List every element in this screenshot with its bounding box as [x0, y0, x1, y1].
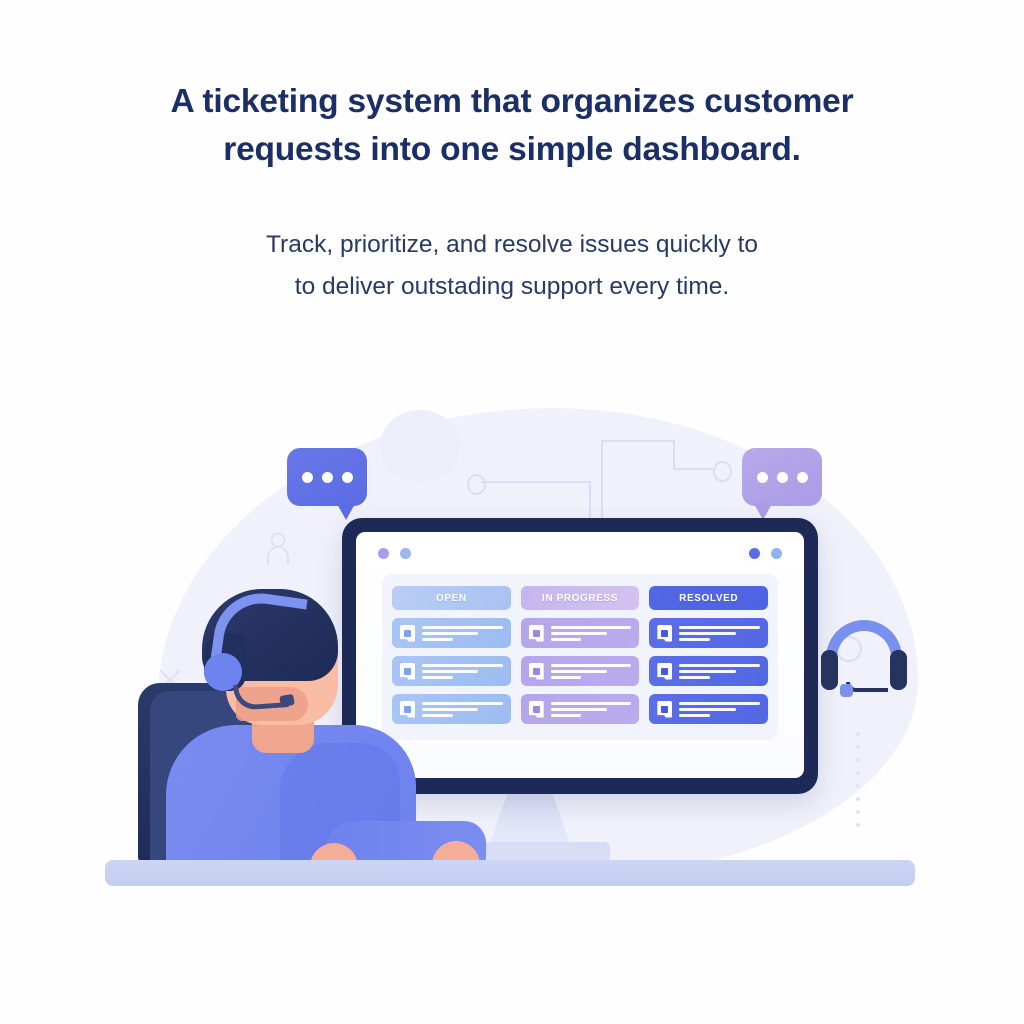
subtitle-line-2: to deliver outstading support every time… [112, 266, 912, 308]
bubble-dot [757, 472, 768, 483]
column-in-progress: IN PROGRESS [521, 586, 640, 728]
column-resolved: RESOLVED [649, 586, 768, 728]
subtitle-line-1: Track, prioritize, and resolve issues qu… [266, 231, 758, 258]
ticket-lines [679, 702, 760, 717]
ticket-lines [551, 626, 632, 641]
window-dot-icon [400, 548, 411, 559]
trace-1 [481, 481, 591, 483]
ticket-icon [529, 663, 544, 680]
headset-earcup-left [821, 650, 838, 690]
ticket-card[interactable] [521, 618, 640, 648]
headset-earcup-right [890, 650, 907, 690]
desk-surface [105, 860, 915, 886]
window-dot-icon [378, 548, 389, 559]
ticket-icon [529, 625, 544, 642]
headset-mic-tip [840, 684, 853, 697]
bubble-dot [302, 472, 313, 483]
user-outline-icon [265, 532, 291, 566]
ticket-lines [679, 626, 760, 641]
node-circle-left [467, 474, 486, 495]
bubble-dot [797, 472, 808, 483]
bubble-dot [342, 472, 353, 483]
trace-4 [601, 440, 675, 442]
headline-line-1: A ticketing system that organizes custom… [171, 83, 854, 120]
ticket-icon [529, 701, 544, 718]
dotted-divider [856, 732, 860, 836]
ticket-lines [679, 664, 760, 679]
page-subtitle: Track, prioritize, and resolve issues qu… [112, 224, 912, 308]
trace-5 [673, 440, 675, 470]
window-dot-icon [749, 548, 760, 559]
window-dot-icon [771, 548, 782, 559]
trace-6 [673, 468, 715, 470]
background-circle [380, 410, 460, 482]
page-headline: A ticketing system that organizes custom… [72, 78, 952, 174]
ticket-icon [657, 625, 672, 642]
headline-line-2: requests into one simple dashboard. [72, 126, 952, 174]
promo-graphic: A ticketing system that organizes custom… [0, 0, 1024, 1024]
ticket-card[interactable] [521, 694, 640, 724]
window-dots-left [378, 548, 411, 559]
bubble-dot [322, 472, 333, 483]
chat-bubble-right[interactable] [742, 448, 822, 506]
column-header-resolved[interactable]: RESOLVED [649, 586, 768, 610]
ticket-icon [657, 701, 672, 718]
ticket-card[interactable] [649, 656, 768, 686]
bubble-dot [777, 472, 788, 483]
ticket-card[interactable] [649, 694, 768, 724]
headset-icon [818, 620, 910, 706]
node-circle-mid [713, 461, 732, 482]
ticket-card[interactable] [649, 618, 768, 648]
support-agent-character [130, 575, 460, 875]
ticket-card[interactable] [521, 656, 640, 686]
bubble-tail [336, 502, 356, 520]
ticket-lines [551, 702, 632, 717]
chat-bubble-left[interactable] [287, 448, 367, 506]
window-dots-right [749, 548, 782, 559]
ticket-lines [551, 664, 632, 679]
column-header-in-progress[interactable]: IN PROGRESS [521, 586, 640, 610]
illustration: OPEN [0, 380, 1024, 920]
ticket-icon [657, 663, 672, 680]
